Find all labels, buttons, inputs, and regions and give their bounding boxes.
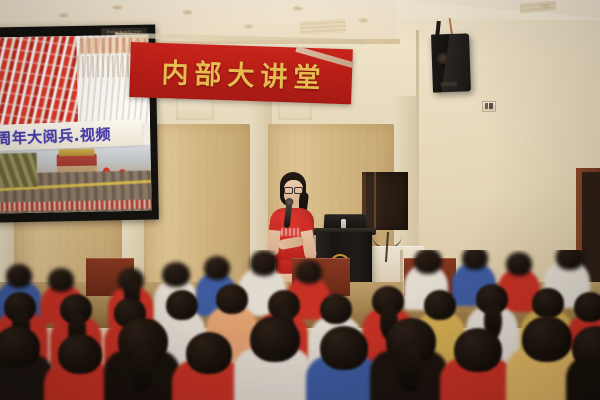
audience-head	[58, 334, 102, 374]
audience-head	[162, 262, 190, 287]
wall-speaker-icon	[431, 33, 471, 92]
slide-upper-photo	[0, 35, 150, 126]
audience-head	[424, 290, 456, 320]
audience-head	[166, 290, 198, 320]
light-switch[interactable]	[482, 101, 496, 112]
audience-head	[204, 256, 230, 280]
audience-head	[522, 316, 572, 362]
slide-title-text: 0周年大阅兵.视频	[0, 123, 111, 149]
parade-red-formation	[0, 36, 82, 126]
audience-head	[216, 284, 248, 314]
audience-head	[250, 316, 300, 362]
downlight-6	[58, 13, 69, 18]
audience-head	[320, 326, 368, 370]
audience-head	[532, 288, 564, 318]
downlight-1	[182, 10, 193, 15]
wall-niche-center	[176, 98, 214, 120]
downlight-3	[292, 6, 303, 11]
hall-banner-text: 内部大讲堂	[155, 51, 327, 96]
projected-slide: 0周年大阅兵.视频	[0, 35, 152, 214]
audience-head	[556, 250, 584, 270]
audience-head	[250, 250, 278, 276]
audience-head	[186, 332, 232, 374]
audience-head	[320, 294, 352, 324]
downlight-2	[243, 24, 254, 29]
audience-ponytail	[130, 344, 154, 392]
ceiling-vent	[300, 19, 347, 35]
audience-head	[6, 264, 32, 288]
audience-head	[414, 250, 442, 274]
audience-head	[296, 260, 322, 284]
audience-head	[462, 250, 488, 270]
lecture-hall-photo: ProjectionScreen 0周年大阅兵.视频 内部大讲堂	[0, 0, 600, 400]
hall-banner: 内部大讲堂	[129, 42, 353, 104]
audience-head	[0, 326, 40, 368]
downlight-5	[112, 5, 123, 10]
audience-ponytail	[398, 344, 422, 392]
audience-head	[506, 252, 532, 276]
audience	[0, 250, 600, 400]
parade-vehicles	[0, 153, 37, 188]
audience-head	[454, 328, 502, 372]
slide-lower-photo	[0, 145, 152, 214]
audience-head	[48, 268, 74, 292]
stage-side-doorway[interactable]	[362, 172, 408, 230]
downlight-4	[358, 18, 369, 23]
glasses-icon	[284, 187, 303, 192]
audience-head	[574, 292, 600, 322]
